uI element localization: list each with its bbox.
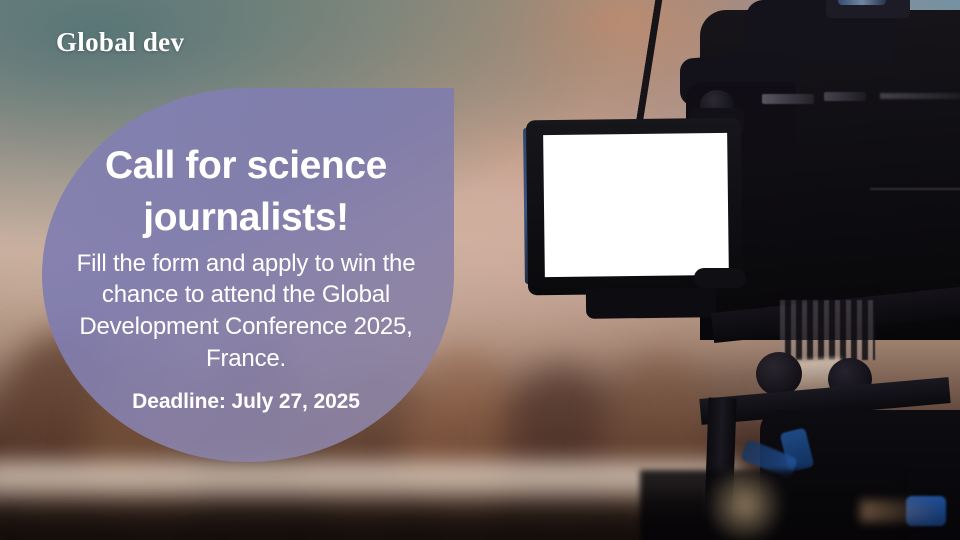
brand-logo: Global dev [56, 27, 184, 58]
promo-text-panel: Call for science journalists! Fill the f… [46, 140, 446, 417]
lcd-screen [543, 133, 729, 277]
camera-hotshoe-highlight [838, 0, 886, 5]
promo-deadline: Deadline: July 27, 2025 [46, 388, 446, 416]
camera-body-marking [880, 93, 960, 99]
promo-banner: Global dev Call for science journalists!… [0, 0, 960, 540]
cable-connector-plug [694, 268, 746, 288]
rig-warm-sheen [860, 500, 940, 522]
rig-adjust-knob [756, 352, 802, 396]
camera-body-marking [824, 92, 866, 101]
camera-body-seam [870, 188, 960, 190]
promo-body-text: Fill the form and apply to win the chanc… [46, 248, 446, 375]
lcd-mount-foot [586, 287, 716, 319]
promo-headline: Call for science journalists! [46, 140, 446, 244]
background-glow [700, 470, 790, 540]
rig-vent-grille [780, 300, 875, 360]
camera-body-marking [762, 94, 814, 104]
